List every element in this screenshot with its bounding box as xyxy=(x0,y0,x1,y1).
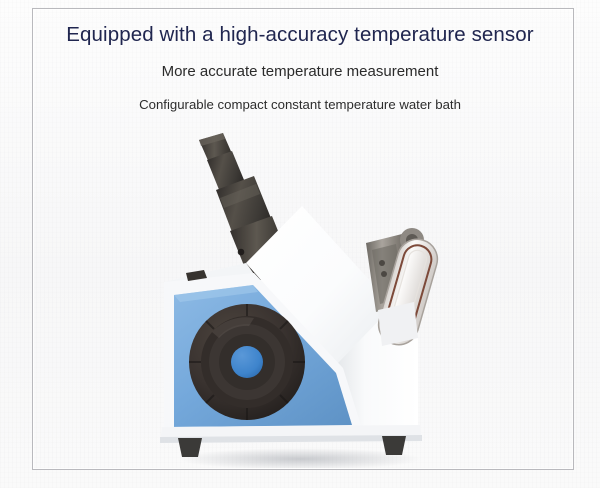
subtitle-primary: More accurate temperature measurement xyxy=(0,63,600,82)
eyepiece-screw xyxy=(238,249,245,256)
product-shadow xyxy=(180,448,420,468)
focus-knob xyxy=(189,304,305,420)
marketing-copy: Equipped with a high-accuracy temperatur… xyxy=(0,22,600,114)
bracket-screw-top xyxy=(379,260,385,266)
knob-center-blue xyxy=(231,346,263,378)
bracket-screw-bottom xyxy=(381,271,387,277)
foot-left xyxy=(178,438,202,457)
headline: Equipped with a high-accuracy temperatur… xyxy=(0,22,600,48)
subtitle-secondary: Configurable compact constant temperatur… xyxy=(0,97,600,114)
product-photo xyxy=(150,132,470,468)
foot-right xyxy=(382,436,406,455)
